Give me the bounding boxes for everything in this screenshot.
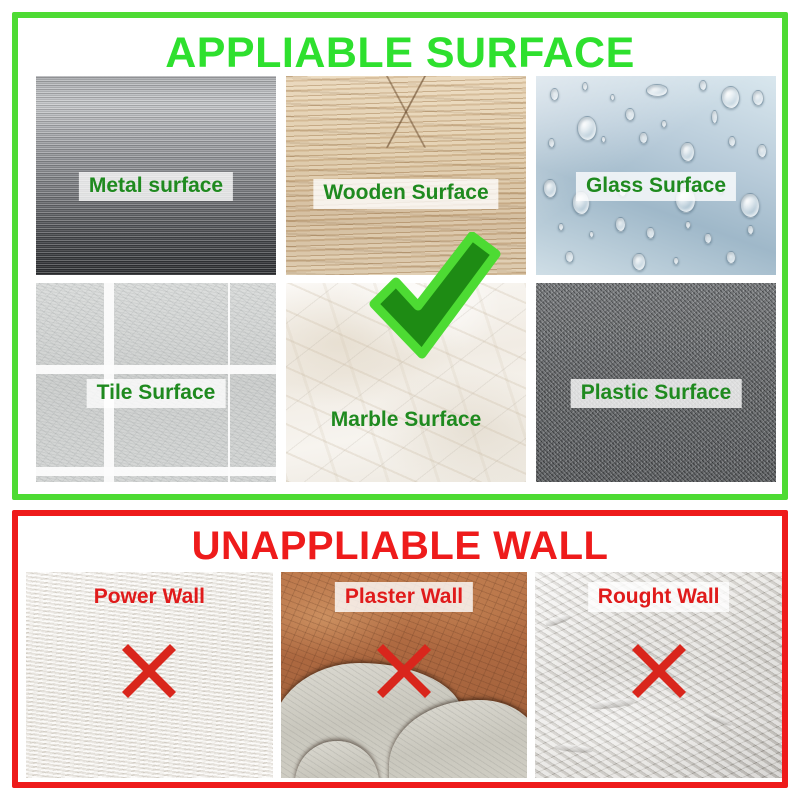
infographic-page: APPLIABLE SURFACE Metal surface Wooden S… — [0, 0, 800, 800]
surface-tile-wooden: Wooden Surface — [286, 76, 526, 275]
red-x-icon — [373, 640, 435, 702]
water-droplet-icon — [699, 80, 707, 91]
wall-label-power: Power Wall — [84, 582, 215, 612]
wall-grid: Power Wall Plaster Wall — [26, 572, 782, 778]
water-droplet-icon — [589, 231, 594, 238]
water-droplet-icon — [543, 179, 557, 198]
wall-label-plaster: Plaster Wall — [335, 582, 473, 612]
water-droplet-icon — [757, 144, 767, 158]
red-x-icon — [628, 640, 690, 702]
water-droplet-icon — [582, 82, 588, 91]
water-droplet-icon — [601, 136, 606, 143]
water-droplet-icon — [610, 94, 615, 101]
water-droplet-icon — [728, 136, 736, 147]
water-droplet-icon — [673, 257, 679, 265]
surface-label-metal: Metal surface — [79, 172, 233, 202]
surface-tile-marble: Marble Surface — [286, 283, 526, 482]
surface-tile-glass: Glass Surface — [536, 76, 776, 275]
water-droplet-icon — [661, 120, 667, 128]
red-x-icon — [118, 640, 180, 702]
water-droplet-icon — [548, 138, 555, 148]
water-droplet-icon — [646, 84, 668, 97]
wall-label-rough: Rought Wall — [588, 582, 730, 612]
water-droplet-icon — [726, 251, 736, 264]
water-droplet-icon — [685, 221, 691, 229]
water-droplet-icon — [565, 251, 574, 263]
water-droplet-icon — [680, 142, 695, 162]
water-droplet-icon — [550, 88, 559, 101]
water-droplet-icon — [632, 253, 646, 271]
wall-tile-plaster: Plaster Wall — [281, 572, 528, 778]
surface-tile-metal: Metal surface — [36, 76, 276, 275]
water-droplet-icon — [625, 108, 635, 121]
water-droplet-icon — [747, 225, 754, 235]
wall-tile-power: Power Wall — [26, 572, 273, 778]
water-droplet-icon — [752, 90, 764, 106]
water-droplet-icon — [615, 217, 626, 232]
wall-gouge — [545, 613, 572, 628]
surface-label-marble: Marble Surface — [321, 406, 492, 436]
surface-label-glass: Glass Surface — [576, 172, 736, 202]
appliable-title: APPLIABLE SURFACE — [18, 18, 782, 79]
surface-label-tile: Tile Surface — [87, 379, 226, 409]
unappliable-title: UNAPPLIABLE WALL — [18, 516, 782, 570]
appliable-surface-panel: APPLIABLE SURFACE Metal surface Wooden S… — [12, 12, 788, 500]
surface-label-wooden: Wooden Surface — [313, 179, 498, 209]
surface-label-plastic: Plastic Surface — [571, 379, 742, 409]
surface-tile-tile: Tile Surface — [36, 283, 276, 482]
water-droplet-icon — [711, 110, 718, 124]
water-droplet-icon — [740, 193, 760, 218]
water-droplet-icon — [639, 132, 648, 144]
water-droplet-icon — [577, 116, 597, 141]
surface-grid: Metal surface Wooden Surface — [36, 76, 776, 482]
unappliable-wall-panel: UNAPPLIABLE WALL Power Wall Plaster Wall — [12, 510, 788, 788]
wall-gouge — [703, 711, 733, 728]
surface-tile-plastic: Plastic Surface — [536, 283, 776, 482]
wall-tile-rough: Rought Wall — [535, 572, 782, 778]
water-droplet-icon — [704, 233, 712, 244]
water-droplet-icon — [558, 223, 564, 231]
wall-gouge — [555, 743, 593, 753]
water-droplet-icon — [721, 86, 740, 109]
water-droplet-icon — [646, 227, 655, 239]
